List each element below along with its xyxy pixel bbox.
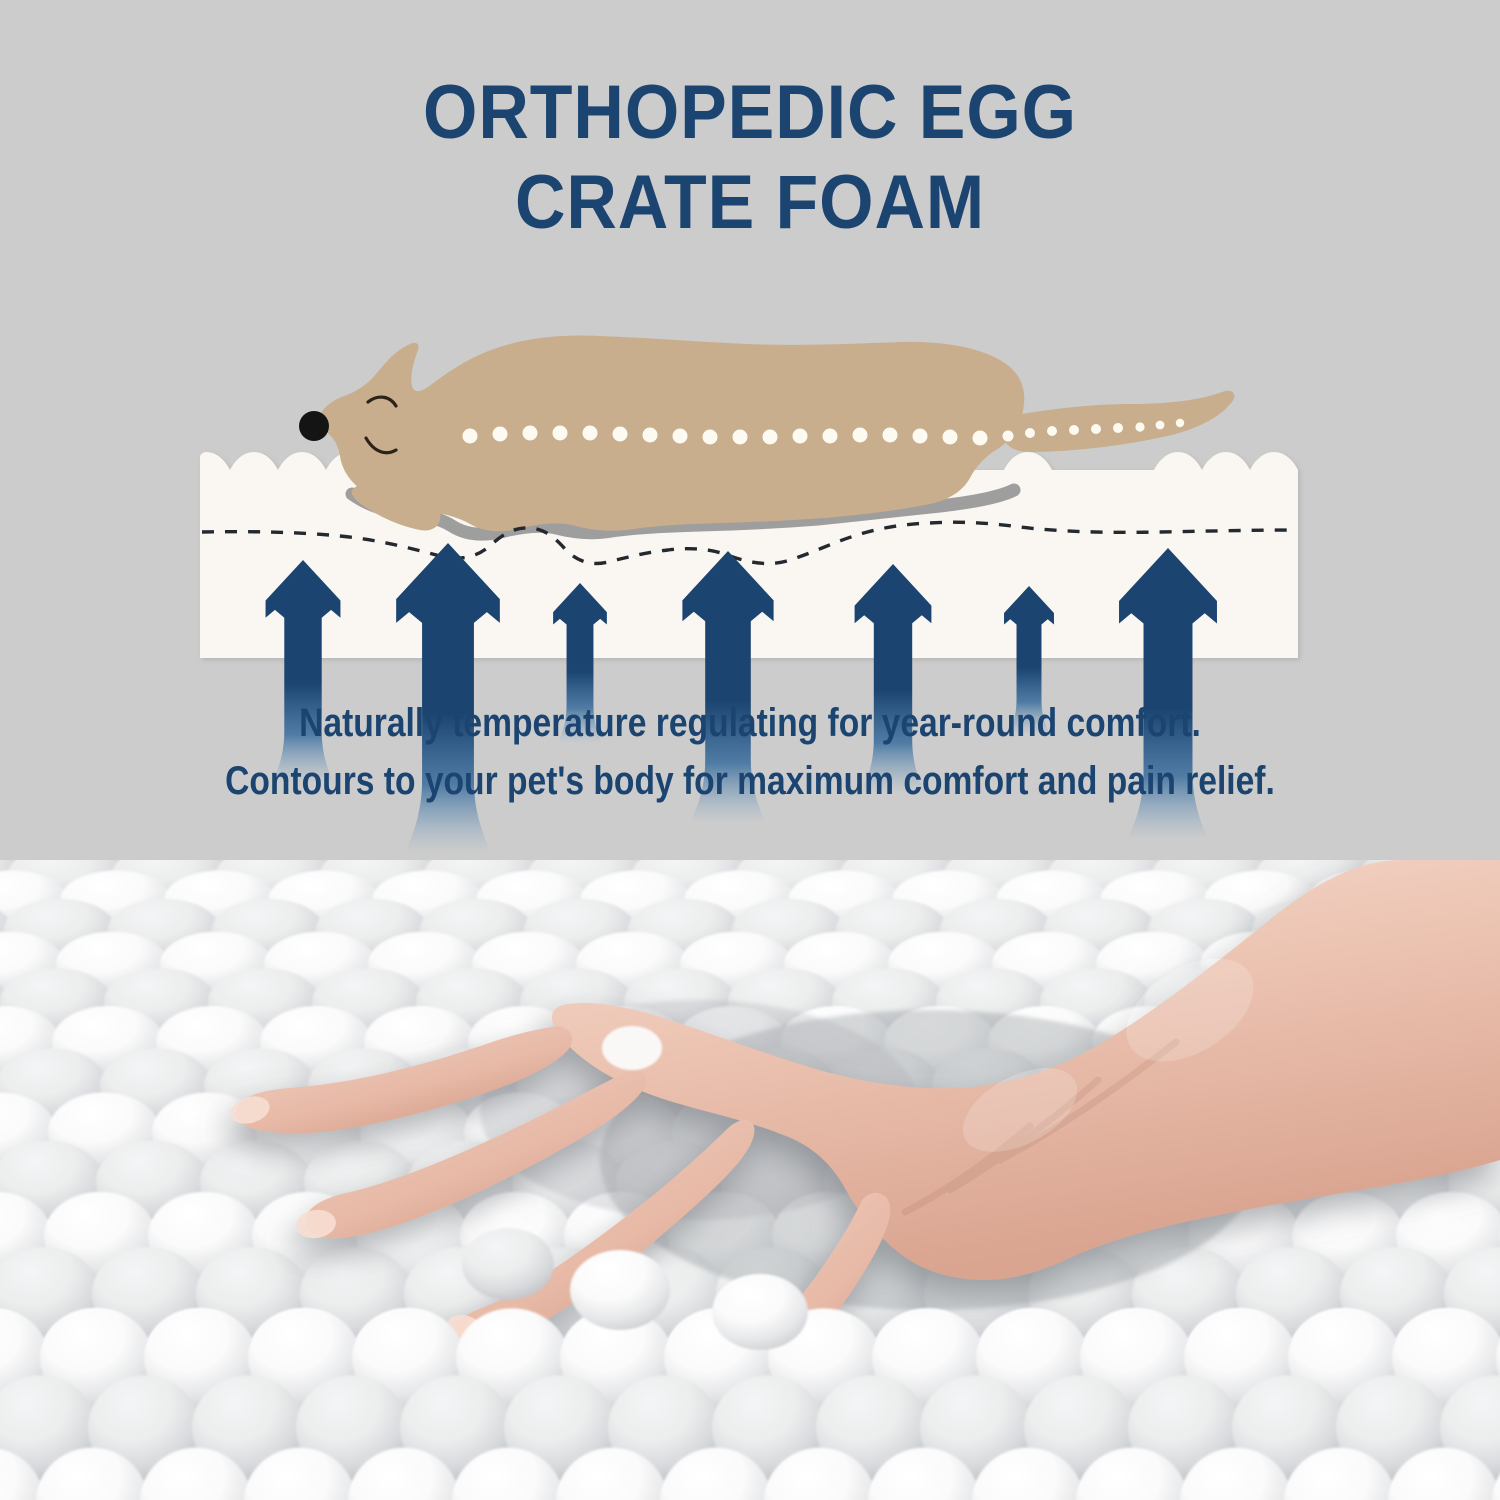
feature-line-1: Naturally temperature regulating for yea… (120, 694, 1380, 752)
feature-description: Naturally temperature regulating for yea… (120, 694, 1380, 810)
hand-pressing-foam-photo (0, 860, 1500, 1500)
feature-line-2: Contours to your pet's body for maximum … (120, 752, 1380, 810)
dog-nose-icon (299, 411, 329, 441)
foam-photo-panel (0, 860, 1500, 1500)
infographic-panel: ORTHOPEDIC EGG CRATE FOAM (0, 0, 1500, 860)
foam-nub (602, 1026, 662, 1070)
product-infographic-page: ORTHOPEDIC EGG CRATE FOAM (0, 0, 1500, 1500)
